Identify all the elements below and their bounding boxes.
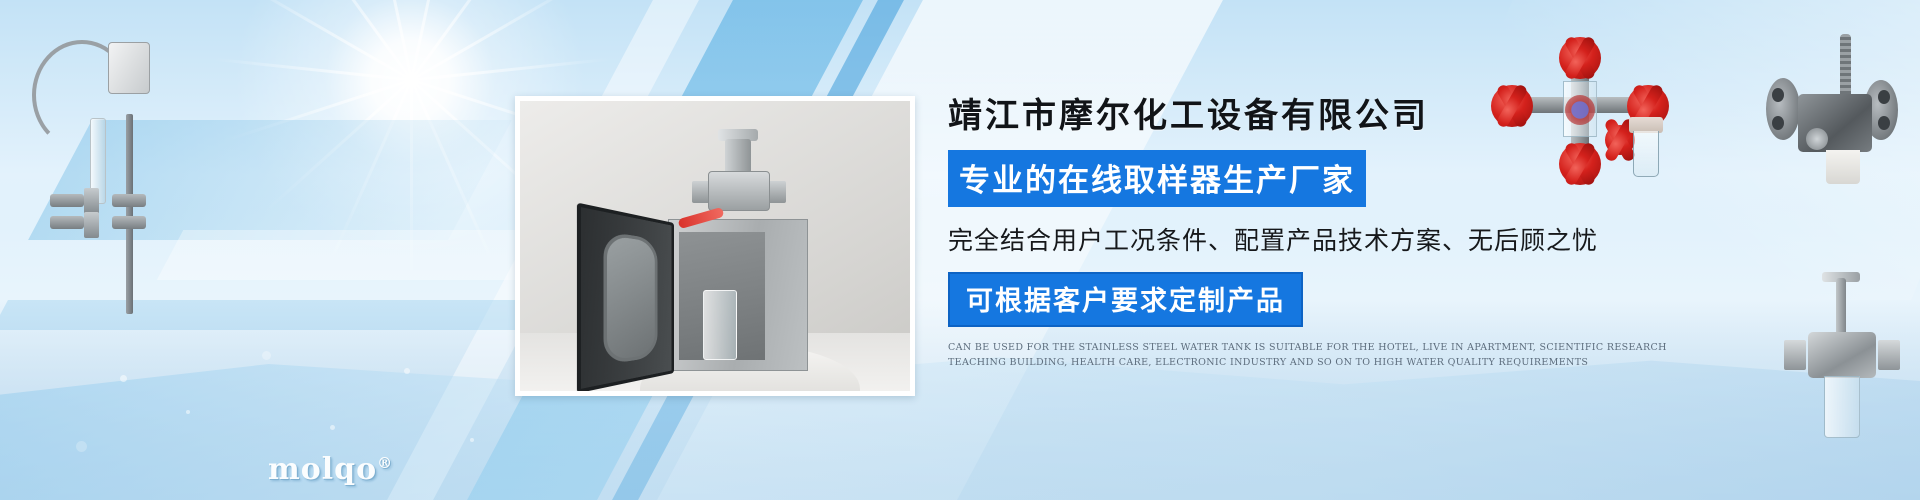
custom-product-callout: 可根据客户要求定制产品	[948, 272, 1303, 327]
banner-subline: 完全结合用户工况条件、配置产品技术方案、无后顾之忧	[948, 221, 1718, 257]
left-machine-illustration	[8, 18, 188, 318]
valve-handwheel-icon	[1559, 37, 1601, 79]
company-title: 靖江市摩尔化工设备有限公司	[948, 88, 1718, 137]
headline-highlight: 专业的在线取样器生产厂家	[948, 150, 1366, 207]
watermark-text: molqo	[268, 452, 377, 487]
valve-lever-illustration	[1760, 28, 1920, 208]
brand-watermark: molqo®	[268, 452, 393, 487]
english-description: Can be used for the stainless steel wate…	[948, 340, 1678, 371]
registered-trademark-icon: ®	[377, 454, 393, 472]
banner-text-block: 靖江市摩尔化工设备有限公司 专业的在线取样器生产厂家 完全结合用户工况条件、配置…	[948, 88, 1718, 371]
valve-bottle-illustration	[1770, 270, 1920, 460]
product-photo	[515, 96, 915, 396]
promo-banner: 靖江市摩尔化工设备有限公司 专业的在线取样器生产厂家 完全结合用户工况条件、配置…	[0, 0, 1920, 500]
